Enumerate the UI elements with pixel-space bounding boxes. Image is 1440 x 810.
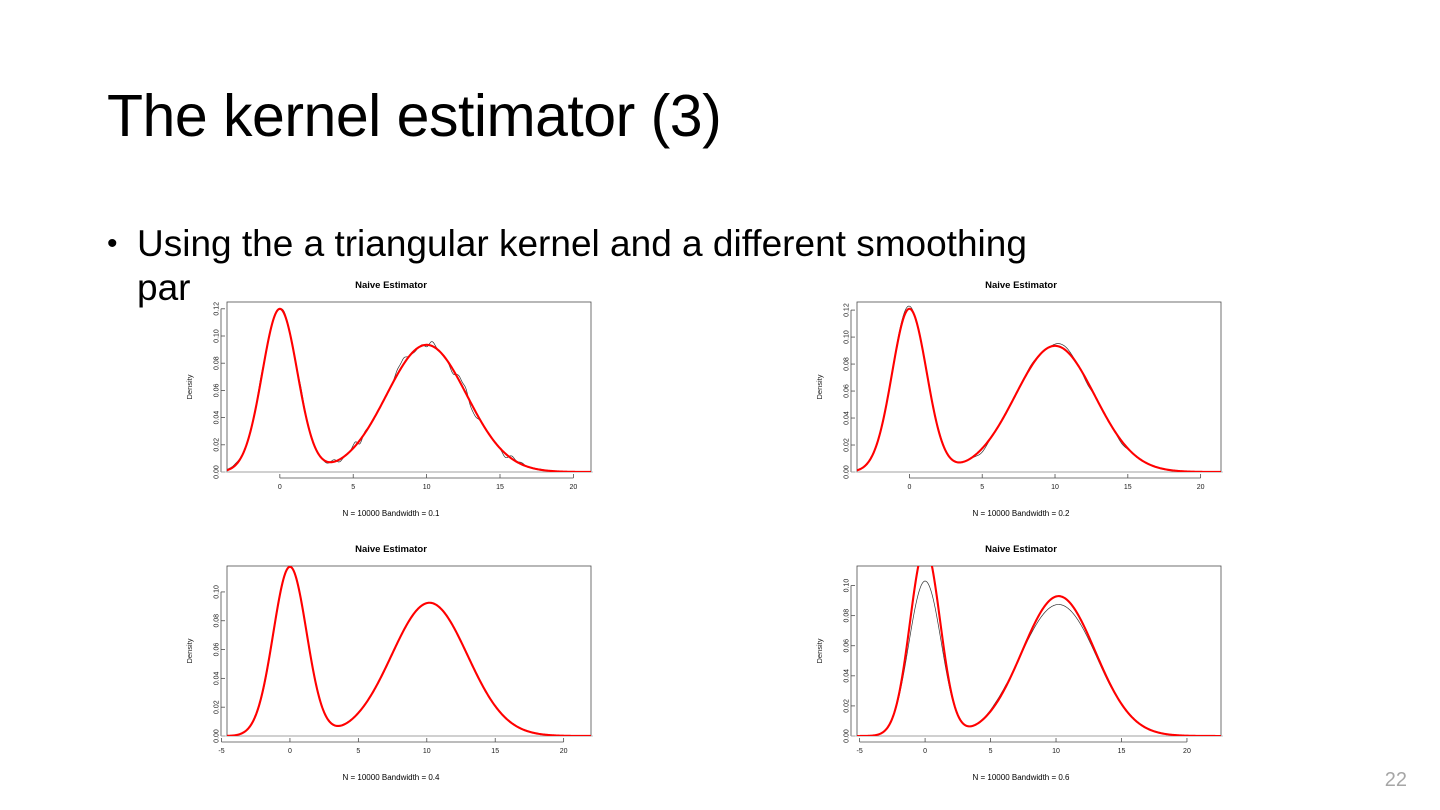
- x-axis-tick-label: 0: [278, 484, 282, 491]
- x-axis-tick-label: 5: [356, 748, 360, 755]
- y-axis-tick-label: 0.06: [214, 643, 221, 657]
- naive-estimate-curve: [227, 567, 591, 736]
- x-axis-tick-label: 20: [1197, 484, 1205, 491]
- chart-panel-bandwidth-0-4: Naive Estimator0.000.020.040.060.080.10D…: [181, 538, 601, 788]
- y-axis-tick-label: 0.00: [844, 465, 851, 479]
- x-axis-tick-label: 5: [351, 484, 355, 491]
- x-axis-tick-label: 20: [569, 484, 577, 491]
- y-axis-label: Density: [815, 374, 824, 399]
- y-axis-tick-label: 0.06: [214, 383, 221, 397]
- x-axis-tick-label: 20: [560, 748, 568, 755]
- chart-subtitle: N = 10000 Bandwidth = 0.4: [343, 773, 441, 782]
- x-axis-tick-label: -5: [218, 748, 224, 755]
- y-axis-tick-label: 0.02: [844, 438, 851, 452]
- naive-estimate-curve: [857, 306, 1221, 472]
- x-axis-tick-label: 10: [423, 748, 431, 755]
- y-axis-tick-label: 0.04: [844, 669, 851, 683]
- y-axis-tick-label: 0.10: [844, 330, 851, 344]
- y-axis-tick-label: 0.02: [214, 438, 221, 452]
- x-axis-tick-label: 15: [1124, 484, 1132, 491]
- y-axis-tick-label: 0.02: [214, 700, 221, 714]
- y-axis-tick-label: 0.04: [844, 411, 851, 425]
- y-axis-tick-label: 0.00: [214, 465, 221, 479]
- reference-density-curve: [857, 548, 1221, 736]
- x-axis-tick-label: -5: [857, 748, 863, 755]
- x-axis-tick-label: 5: [980, 484, 984, 491]
- bullet-item: • Using the a triangular kernel and a di…: [107, 222, 1227, 266]
- chart-subtitle: N = 10000 Bandwidth = 0.6: [973, 773, 1071, 782]
- chart-subtitle: N = 10000 Bandwidth = 0.1: [343, 509, 441, 518]
- y-axis-tick-label: 0.00: [214, 729, 221, 743]
- reference-density-curve: [227, 309, 591, 472]
- bullet-text: Using the a triangular kernel and a diff…: [137, 222, 1227, 266]
- x-axis-tick-label: 15: [1118, 748, 1126, 755]
- page-title: The kernel estimator (3): [107, 86, 721, 148]
- y-axis-tick-label: 0.10: [844, 579, 851, 593]
- x-axis-tick-label: 5: [989, 748, 993, 755]
- plot-frame: [227, 302, 591, 472]
- y-axis-tick-label: 0.04: [214, 671, 221, 685]
- chart-subtitle: N = 10000 Bandwidth = 0.2: [973, 509, 1071, 518]
- x-axis-tick-label: 10: [1052, 748, 1060, 755]
- x-axis-tick-label: 0: [907, 484, 911, 491]
- slide-page-number: 22: [1385, 769, 1407, 792]
- x-axis-tick-label: 20: [1183, 748, 1191, 755]
- y-axis-label: Density: [185, 374, 194, 399]
- y-axis-tick-label: 0.12: [214, 302, 221, 316]
- y-axis-label: Density: [815, 638, 824, 663]
- chart-panel-bandwidth-0-2: Naive Estimator0.000.020.040.060.080.100…: [811, 274, 1231, 524]
- x-axis-tick-label: 10: [423, 484, 431, 491]
- y-axis-tick-label: 0.10: [214, 585, 221, 599]
- x-axis-tick-label: 15: [496, 484, 504, 491]
- y-axis-tick-label: 0.08: [844, 609, 851, 623]
- x-axis-tick-label: 10: [1051, 484, 1059, 491]
- y-axis-tick-label: 0.04: [214, 411, 221, 425]
- y-axis-label: Density: [185, 638, 194, 663]
- chart-title: Naive Estimator: [355, 544, 427, 555]
- y-axis-tick-label: 0.08: [844, 357, 851, 371]
- chart-title: Naive Estimator: [985, 280, 1057, 291]
- y-axis-tick-label: 0.12: [844, 303, 851, 317]
- y-axis-tick-label: 0.10: [214, 329, 221, 343]
- chart-title: Naive Estimator: [985, 544, 1057, 555]
- x-axis-tick-label: 0: [923, 748, 927, 755]
- y-axis-tick-label: 0.08: [214, 356, 221, 370]
- naive-estimate-curve: [227, 309, 591, 472]
- plot-frame: [857, 566, 1221, 736]
- chart-panel-bandwidth-0-6: Naive Estimator0.000.020.040.060.080.10D…: [811, 538, 1231, 788]
- reference-density-curve: [227, 567, 591, 736]
- x-axis-tick-label: 0: [288, 748, 292, 755]
- chart-title: Naive Estimator: [355, 280, 427, 291]
- x-axis-tick-label: 15: [491, 748, 499, 755]
- y-axis-tick-label: 0.08: [214, 614, 221, 628]
- bullet-marker-icon: •: [107, 222, 137, 266]
- y-axis-tick-label: 0.02: [844, 699, 851, 713]
- y-axis-tick-label: 0.06: [844, 639, 851, 653]
- plot-frame: [857, 302, 1221, 472]
- y-axis-tick-label: 0.00: [844, 729, 851, 743]
- y-axis-tick-label: 0.06: [844, 384, 851, 398]
- chart-panel-bandwidth-0-1: Naive Estimator0.000.020.040.060.080.100…: [181, 274, 601, 524]
- reference-density-curve: [857, 309, 1221, 472]
